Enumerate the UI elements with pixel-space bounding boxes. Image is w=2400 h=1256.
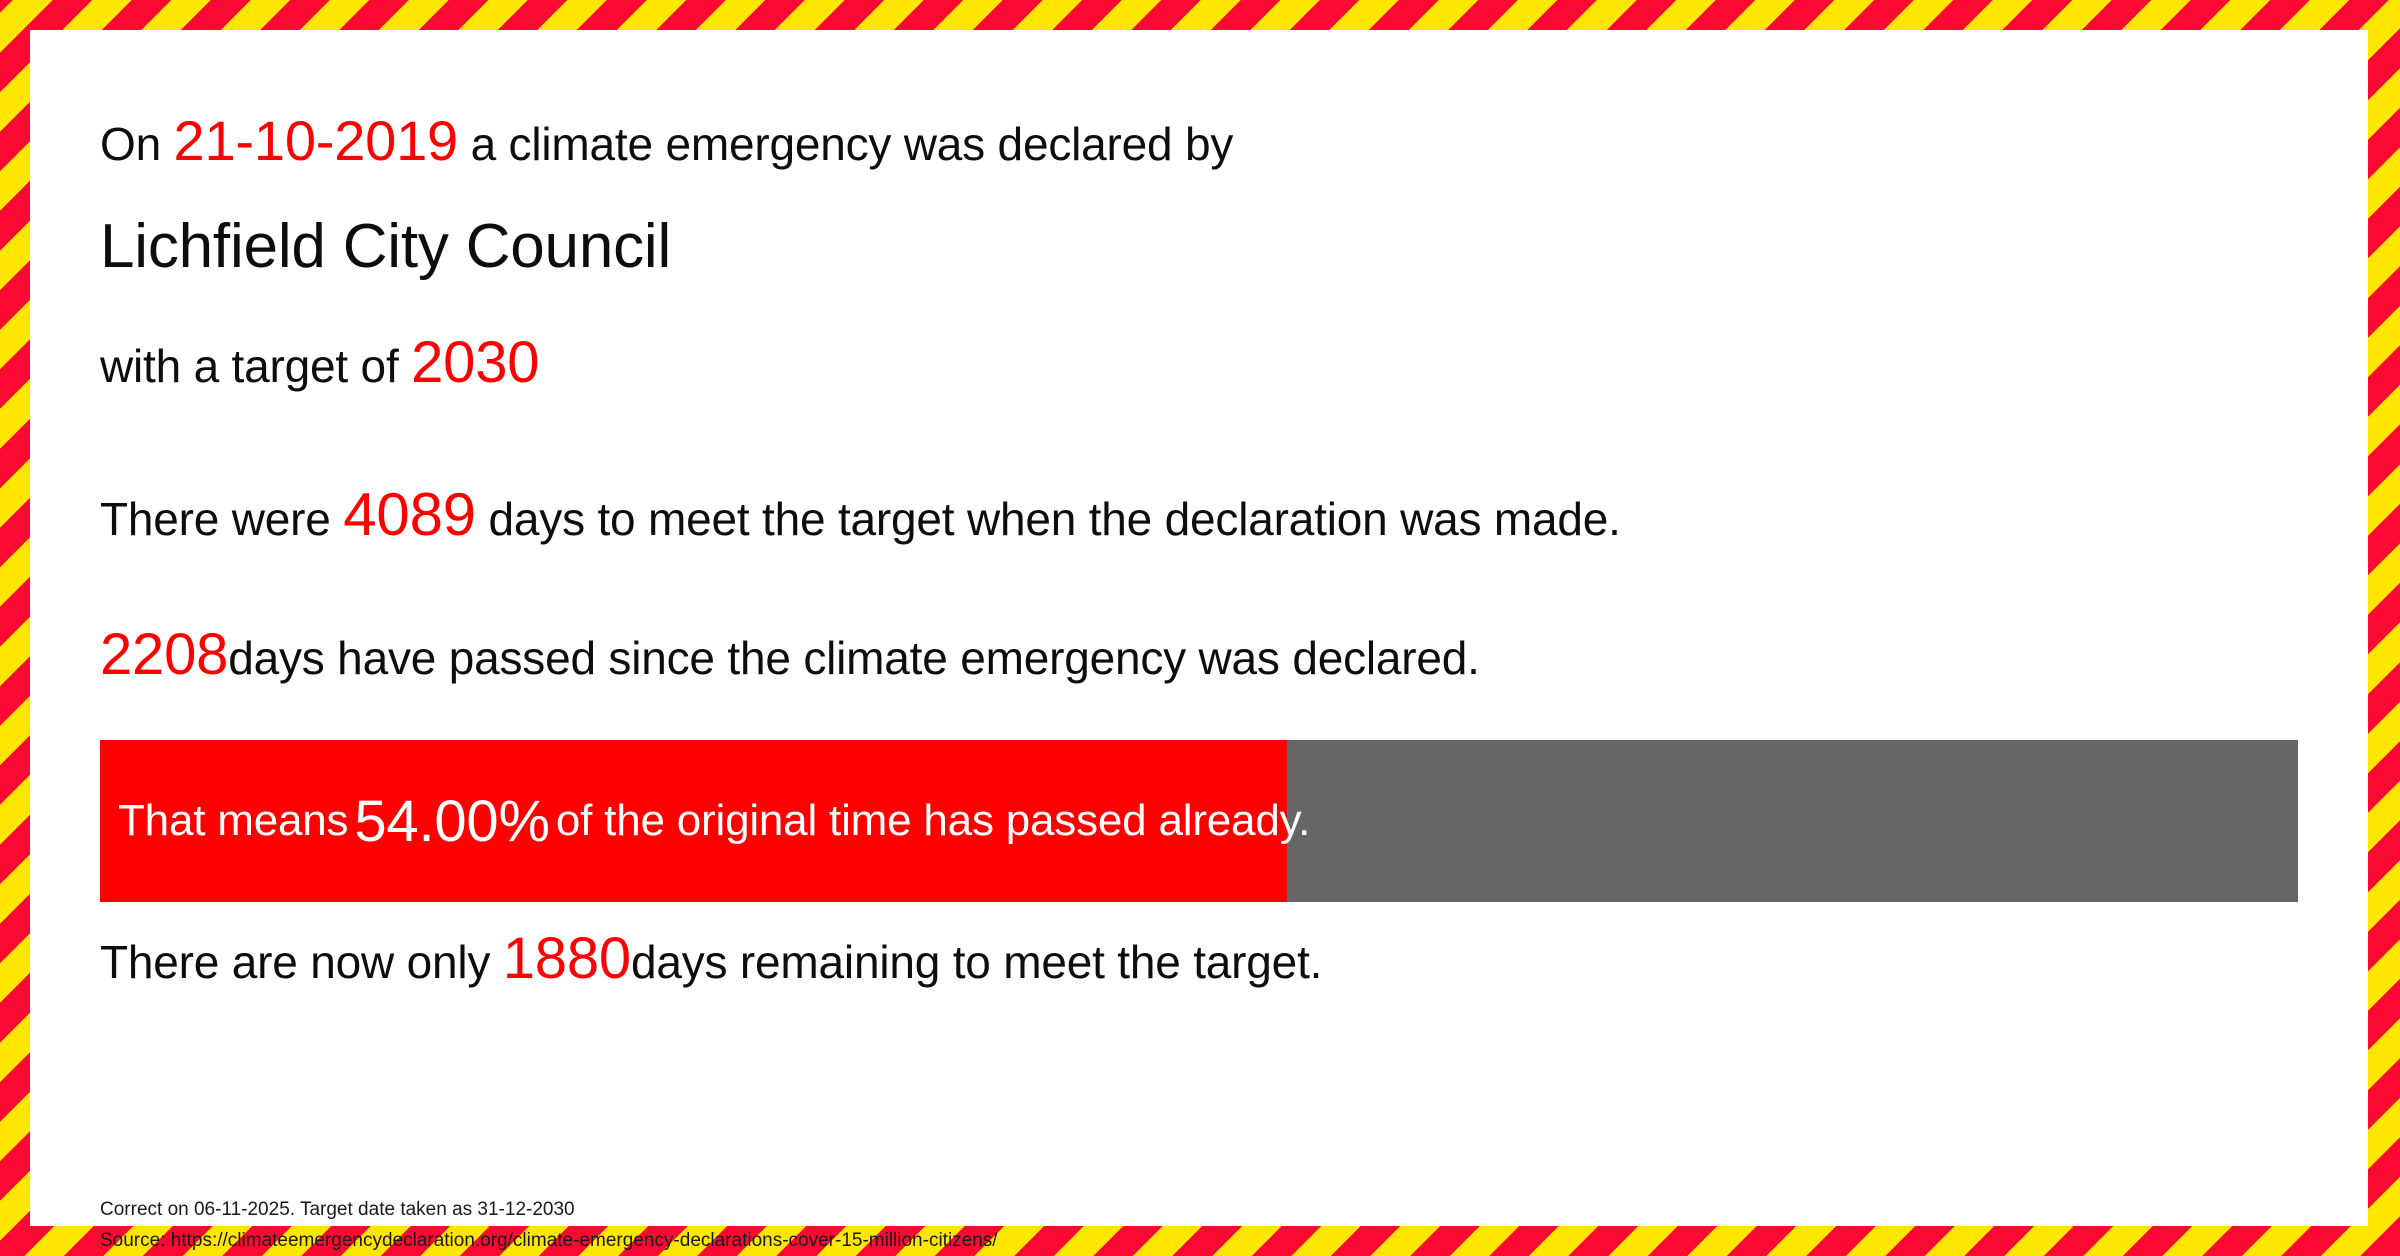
progress-percent-value: 54.00%: [348, 788, 556, 855]
progress-bar-track: That means 54.00% of the original time h…: [100, 740, 2298, 902]
original-days-line: There were 4089 days to meet the target …: [100, 492, 1621, 542]
remaining-days-prefix: There are now only: [100, 936, 503, 988]
target-year-value: 2030: [411, 330, 539, 395]
original-days-prefix: There were: [100, 493, 343, 545]
progress-label-suffix: of the original time has passed already.: [556, 796, 1310, 846]
target-label: with a target of: [100, 340, 411, 392]
declaration-line1-prefix: On: [100, 118, 174, 170]
progress-bar-label: That means 54.00% of the original time h…: [118, 740, 1310, 902]
declaration-line1-suffix: a climate emergency was declared by: [458, 118, 1233, 170]
remaining-days-line: There are now only 1880days remaining to…: [100, 936, 1322, 985]
declaration-date-line: On 21-10-2019 a climate emergency was de…: [100, 118, 1233, 167]
footer-correct-on: Correct on 06-11-2025. Target date taken…: [100, 1194, 998, 1225]
original-days-value: 4089: [343, 481, 476, 548]
footer-source: Source: https://climateemergencydeclarat…: [100, 1225, 998, 1256]
remaining-days-suffix: days remaining to meet the target.: [631, 936, 1322, 988]
card-content-area: On 21-10-2019 a climate emergency was de…: [100, 30, 2328, 1226]
progress-label-prefix: That means: [118, 796, 348, 846]
declaration-date-value: 21-10-2019: [174, 109, 458, 172]
footer-notes: Correct on 06-11-2025. Target date taken…: [100, 1194, 998, 1256]
white-content-card: On 21-10-2019 a climate emergency was de…: [30, 30, 2368, 1226]
authority-name: Lichfield City Council: [100, 216, 671, 278]
elapsed-days-line: 2208days have passed since the climate e…: [100, 632, 1480, 681]
remaining-days-value: 1880: [503, 926, 631, 991]
hazard-poster: On 21-10-2019 a climate emergency was de…: [0, 0, 2400, 1256]
elapsed-days-suffix: days have passed since the climate emerg…: [228, 632, 1480, 684]
original-days-suffix: days to meet the target when the declara…: [476, 493, 1621, 545]
elapsed-days-value: 2208: [100, 622, 228, 687]
target-line: with a target of 2030: [100, 340, 539, 389]
